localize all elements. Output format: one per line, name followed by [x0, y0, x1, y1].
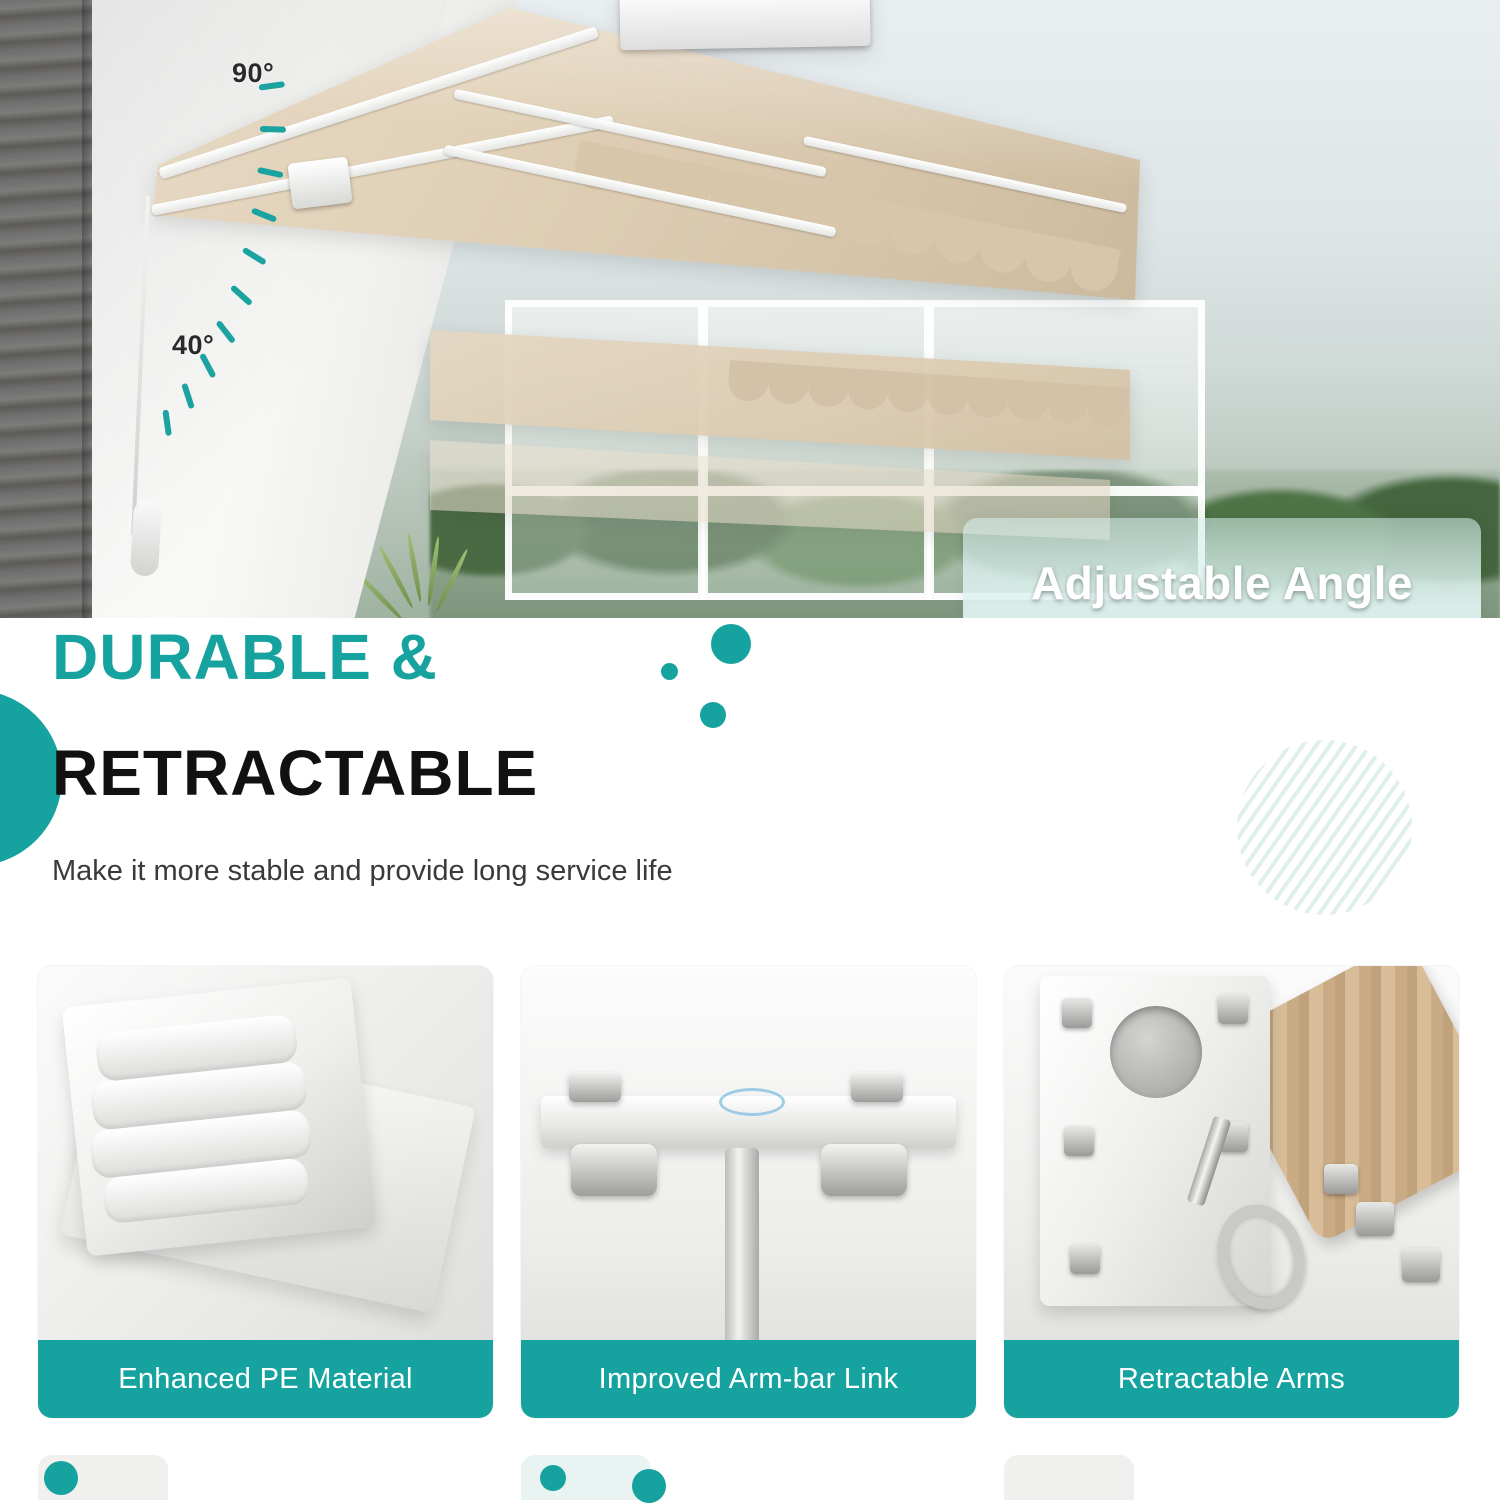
feature-card-arm-bar-link: Improved Arm-bar Link	[521, 966, 976, 1418]
callout-title: Adjustable Angle	[963, 556, 1481, 610]
feature-card-retractable-arms: Retractable Arms	[1004, 966, 1459, 1418]
highlight-ring	[719, 1088, 785, 1116]
angle-label-min: 40°	[172, 330, 214, 361]
feature-cards: Enhanced PE Material Improved Arm-bar Li…	[0, 966, 1500, 1422]
roller-housing	[620, 0, 871, 50]
stone-wall-edge	[0, 0, 92, 618]
feature-caption-retractable-arms: Retractable Arms	[1004, 1340, 1459, 1418]
peek-dot-2	[540, 1465, 566, 1491]
accent-dot-large	[711, 624, 751, 664]
headline-subtext: Make it more stable and provide long ser…	[52, 855, 673, 888]
peek-card-3	[1004, 1455, 1134, 1500]
feature-card-pe-material: Enhanced PE Material	[38, 966, 493, 1418]
accent-dot-medium	[700, 702, 726, 728]
headline-secondary: RETRACTABLE	[52, 736, 538, 810]
headline-primary: DURABLE &	[52, 620, 438, 694]
angle-arc-indicator	[120, 60, 420, 390]
feature-caption-pe-material: Enhanced PE Material	[38, 1340, 493, 1418]
striped-circle-accent	[1237, 740, 1412, 915]
accent-dot-small	[661, 663, 678, 680]
next-section-peek	[0, 1455, 1500, 1500]
peek-dot-1	[44, 1461, 78, 1495]
peek-dot-3	[632, 1469, 666, 1503]
feature-caption-arm-bar-link: Improved Arm-bar Link	[521, 1340, 976, 1418]
crank-handle	[130, 499, 162, 576]
angle-label-max: 90°	[232, 58, 274, 89]
